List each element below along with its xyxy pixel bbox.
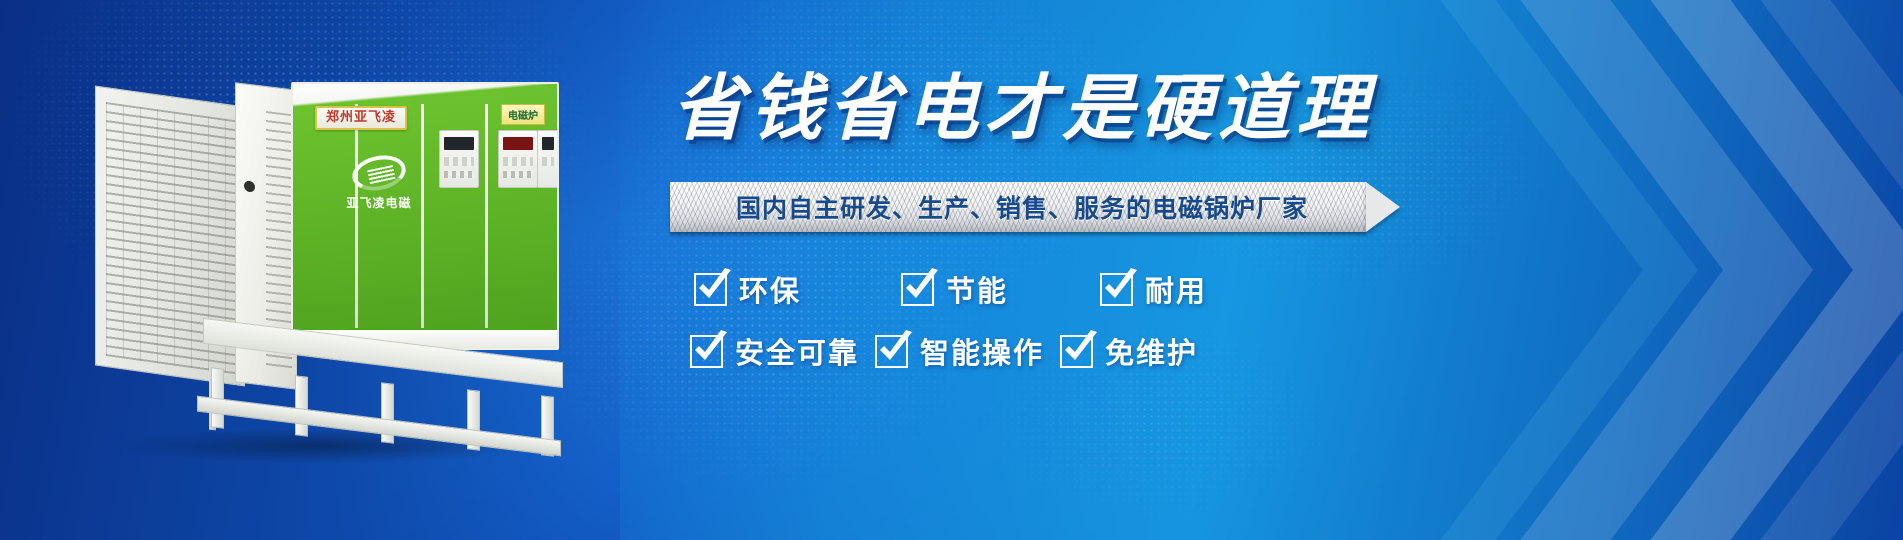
promo-banner: 郑州亚飞凌 亚飞凌电磁 电磁炉 xyxy=(0,0,1903,540)
feature-label: 免维护 xyxy=(1105,330,1198,372)
banner-headline: 省钱省电才是硬道理 xyxy=(672,72,1374,144)
control-panel-buttons xyxy=(542,157,554,166)
banner-subtitle: 国内自主研发、生产、销售、服务的电磁锅炉厂家 xyxy=(670,182,1366,232)
control-panel xyxy=(439,130,479,188)
control-panel-display xyxy=(542,137,554,150)
control-panel-display xyxy=(503,137,533,150)
control-panel-display xyxy=(444,137,474,150)
feature-label: 节能 xyxy=(946,268,1008,310)
check-mark-icon xyxy=(1060,335,1093,368)
check-mark-icon xyxy=(1100,273,1133,306)
check-mark-icon xyxy=(875,335,908,368)
chevron-arrow-decoration xyxy=(1393,0,1903,540)
feature-item-naiyong: 耐用 xyxy=(1100,268,1207,310)
product-brand-logo: 亚飞凌电磁 xyxy=(331,156,427,211)
control-panel xyxy=(537,130,559,188)
feature-row-1: 环保 节能 耐用 xyxy=(690,258,1350,320)
product-side-tag: 电磁炉 xyxy=(501,104,545,125)
check-mark-icon xyxy=(901,273,934,306)
product-door-knob xyxy=(244,180,255,192)
control-panel-buttons xyxy=(503,157,533,166)
subtitle-ribbon: 国内自主研发、生产、销售、服务的电磁锅炉厂家 xyxy=(670,182,1366,232)
brand-logo-label: 亚飞凌电磁 xyxy=(331,194,427,211)
check-mark-icon xyxy=(690,335,723,368)
control-panel xyxy=(498,130,538,188)
cabinet-door-seam xyxy=(421,104,424,328)
chevron-arrow-icon xyxy=(1393,0,1903,540)
feature-label: 安全可靠 xyxy=(735,330,859,372)
feature-item-huanbao: 环保 xyxy=(694,268,801,310)
subtitle-ribbon-tail xyxy=(1366,182,1400,232)
control-panel-buttons-row2 xyxy=(444,171,474,178)
product-image-electromagnetic-boiler: 郑州亚飞凌 亚飞凌电磁 电磁炉 xyxy=(95,78,565,458)
base-legs-group xyxy=(185,366,575,438)
feature-label: 智能操作 xyxy=(920,330,1044,372)
cabinet-door-seam xyxy=(355,104,358,328)
control-panel-buttons xyxy=(444,157,474,166)
base-leg xyxy=(295,375,308,437)
base-rail xyxy=(197,396,561,457)
feature-row-2: 安全可靠 智能操作 免维护 xyxy=(690,320,1350,382)
feature-item-anquankekao: 安全可靠 xyxy=(690,330,859,372)
product-base-frame xyxy=(185,340,575,452)
feature-item-mianweihu: 免维护 xyxy=(1060,330,1198,372)
cabinet-door-seam xyxy=(485,104,488,328)
product-nameplate: 郑州亚飞凌 xyxy=(315,106,407,130)
brand-swoosh-icon xyxy=(349,151,409,195)
control-panel-buttons-row2 xyxy=(503,171,533,178)
feature-item-jieneng: 节能 xyxy=(901,268,1008,310)
feature-label: 环保 xyxy=(739,268,801,310)
product-front-green-cabinets: 郑州亚飞凌 亚飞凌电磁 电磁炉 xyxy=(291,82,559,350)
feature-item-zhinengcaozuo: 智能操作 xyxy=(875,330,1044,372)
feature-label: 耐用 xyxy=(1145,268,1207,310)
check-mark-icon xyxy=(694,273,727,306)
feature-checklist: 环保 节能 耐用 安全可靠 xyxy=(690,258,1350,382)
